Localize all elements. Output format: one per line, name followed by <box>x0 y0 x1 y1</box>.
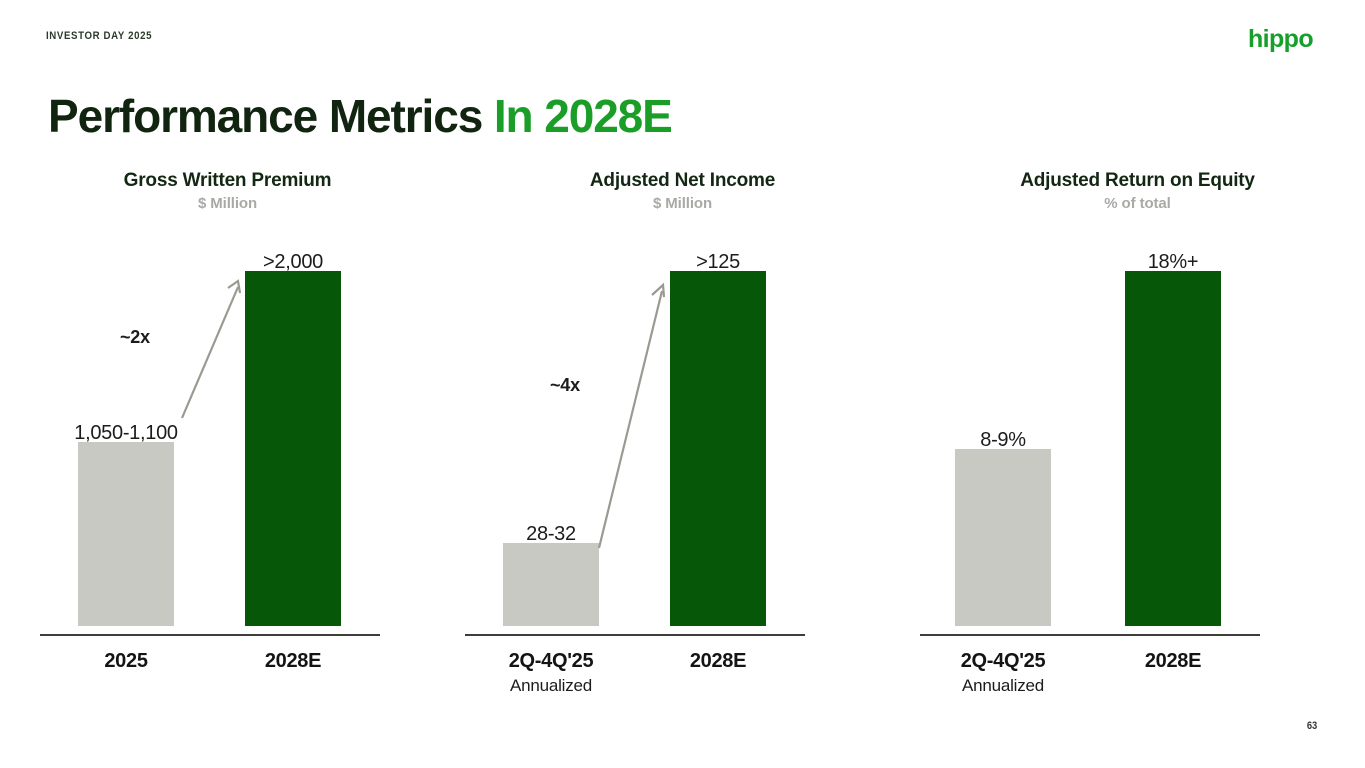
page-number: 63 <box>1307 720 1317 732</box>
growth-annotation: ~2x <box>120 327 150 348</box>
axis-baseline <box>40 634 380 636</box>
bar-2028e <box>245 271 341 626</box>
hippo-logo: hippo <box>1248 27 1313 52</box>
page-title-accent: In 2028E <box>494 90 672 142</box>
axis-tick-2028e: 2028E <box>1077 650 1269 673</box>
axis-tick-label: 2028E <box>622 650 814 673</box>
bar-2q-4q25-annualized <box>503 543 599 626</box>
axis-tick-label: 2Q-4Q'25 <box>907 650 1099 673</box>
axis-baseline <box>920 634 1260 636</box>
axis-tick-2028e: 2028E <box>622 650 814 673</box>
axis-tick-label: 2Q-4Q'25 <box>455 650 647 673</box>
axis-tick-sublabel: Annualized <box>907 676 1099 696</box>
bar-value-label-2028e: >125 <box>638 251 798 274</box>
bar-value-label-2025: 1,050-1,100 <box>26 422 226 445</box>
charts-row: Gross Written Premium $ Million 1,050-1,… <box>0 160 1365 720</box>
axis-tick-label: 2028E <box>1077 650 1269 673</box>
eyebrow-label: INVESTOR DAY 2025 <box>46 30 152 42</box>
axis-baseline <box>465 634 805 636</box>
axis-tick-label: 2025 <box>30 650 222 673</box>
bar-value-label-2028e: >2,000 <box>213 251 373 274</box>
growth-annotation: ~4x <box>550 375 580 396</box>
bar-value-label-2028e: 18%+ <box>1093 251 1253 274</box>
bar-2q-4q25-annualized <box>955 449 1051 626</box>
bar-2028e <box>670 271 766 626</box>
axis-tick-2025: 2025 <box>30 650 222 673</box>
plot-area: 1,050-1,100 >2,000 ~2x 2025 2028E <box>0 160 455 720</box>
chart-panel-adjusted-return-on-equity: Adjusted Return on Equity % of total 8-9… <box>910 160 1365 720</box>
bar-2028e <box>1125 271 1221 626</box>
axis-tick-2028e: 2028E <box>197 650 389 673</box>
axis-tick-sublabel: Annualized <box>455 676 647 696</box>
bar-value-label-2q-4q25: 28-32 <box>471 523 631 546</box>
axis-tick-label: 2028E <box>197 650 389 673</box>
axis-tick-2q-4q25: 2Q-4Q'25 Annualized <box>907 650 1099 696</box>
plot-area: 8-9% 18%+ 2Q-4Q'25 Annualized 2028E <box>910 160 1365 720</box>
axis-tick-2q-4q25: 2Q-4Q'25 Annualized <box>455 650 647 696</box>
chart-panel-gross-written-premium: Gross Written Premium $ Million 1,050-1,… <box>0 160 455 720</box>
bar-value-label-2q-4q25: 8-9% <box>923 429 1083 452</box>
chart-panel-adjusted-net-income: Adjusted Net Income $ Million 28-32 >125… <box>455 160 910 720</box>
page-title: Performance Metrics In 2028E <box>48 89 672 143</box>
page-title-main: Performance Metrics <box>48 90 494 142</box>
bar-2025 <box>78 442 174 626</box>
plot-area: 28-32 >125 ~4x 2Q-4Q'25 Annualized 2028E <box>455 160 910 720</box>
